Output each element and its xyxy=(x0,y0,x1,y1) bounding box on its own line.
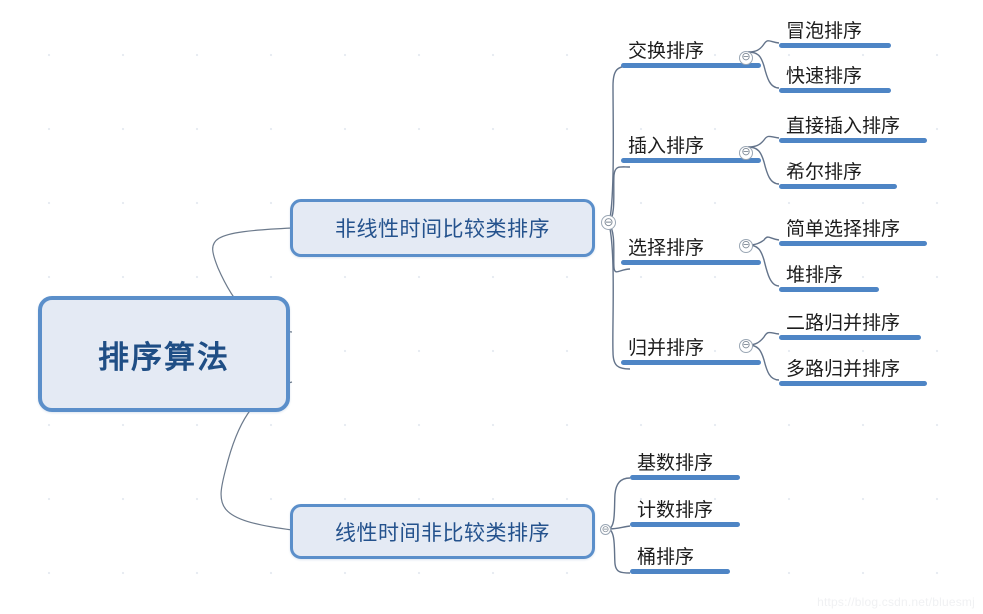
minus-circle-icon: ⊖ xyxy=(741,52,750,63)
branch-node-nonlinear[interactable]: 非线性时间比较类排序 xyxy=(290,199,595,257)
minus-circle-icon: ⊖ xyxy=(741,240,750,251)
connector-linear-to-bucket xyxy=(608,529,630,573)
leaf-node-heap-sort-label: 堆排序 xyxy=(786,266,843,286)
underline-bar xyxy=(621,260,761,265)
minus-circle-icon: ⊖ xyxy=(741,340,750,351)
leaf-node-simple-selection-sort[interactable]: 简单选择排序 xyxy=(779,216,927,246)
leaf-node-shell-sort-label: 希尔排序 xyxy=(786,163,862,183)
collapse-toggle-insertion[interactable]: ⊖ xyxy=(739,146,753,160)
group-node-insertion-label: 插入排序 xyxy=(628,137,704,157)
underline-bar xyxy=(779,335,921,340)
watermark-text: https://blog.csdn.net/bluesmj xyxy=(817,595,975,609)
collapse-toggle-linear[interactable]: ⊖ xyxy=(600,524,611,535)
underline-bar xyxy=(779,43,891,48)
root-node-label: 排序算法 xyxy=(98,332,230,377)
underline-bar xyxy=(779,138,927,143)
root-node[interactable]: 排序算法 xyxy=(38,296,290,412)
underline-bar xyxy=(630,522,740,527)
underline-bar xyxy=(779,241,927,246)
leaf-node-multi-way-merge-sort-label: 多路归并排序 xyxy=(786,360,900,380)
leaf-node-simple-selection-sort-label: 简单选择排序 xyxy=(786,220,900,240)
underline-bar xyxy=(621,158,761,163)
connector-linear-to-radix xyxy=(608,478,630,529)
branch-node-nonlinear-label: 非线性时间比较类排序 xyxy=(335,213,550,243)
leaf-node-radix-sort[interactable]: 基数排序 xyxy=(630,450,740,480)
leaf-node-heap-sort[interactable]: 堆排序 xyxy=(779,262,879,292)
leaf-node-direct-insertion-sort-label: 直接插入排序 xyxy=(786,117,900,137)
leaf-node-counting-sort[interactable]: 计数排序 xyxy=(630,497,740,527)
underline-bar xyxy=(779,381,927,386)
leaf-node-shell-sort[interactable]: 希尔排序 xyxy=(779,159,897,189)
underline-bar xyxy=(779,88,891,93)
leaf-node-quick-sort-label: 快速排序 xyxy=(786,67,862,87)
minus-circle-icon: ⊖ xyxy=(603,216,613,228)
branch-node-linear[interactable]: 线性时间非比较类排序 xyxy=(290,504,595,559)
group-node-selection-label: 选择排序 xyxy=(628,239,704,259)
underline-bar xyxy=(779,287,879,292)
minus-circle-icon: ⊖ xyxy=(602,525,610,534)
branch-node-linear-label: 线性时间非比较类排序 xyxy=(335,517,550,547)
collapse-toggle-nonlinear[interactable]: ⊖ xyxy=(601,215,616,230)
group-node-exchange-label: 交换排序 xyxy=(628,42,704,62)
underline-bar xyxy=(779,184,897,189)
collapse-toggle-merge[interactable]: ⊖ xyxy=(739,339,753,353)
leaf-node-bucket-sort-label: 桶排序 xyxy=(637,548,694,568)
leaf-node-bubble-sort[interactable]: 冒泡排序 xyxy=(779,18,891,48)
connector-linear-to-count xyxy=(608,526,630,529)
underline-bar xyxy=(630,475,740,480)
underline-bar xyxy=(621,63,761,68)
leaf-node-bucket-sort[interactable]: 桶排序 xyxy=(630,544,730,574)
leaf-node-bubble-sort-label: 冒泡排序 xyxy=(786,22,862,42)
leaf-node-direct-insertion-sort[interactable]: 直接插入排序 xyxy=(779,113,927,143)
leaf-node-radix-sort-label: 基数排序 xyxy=(637,454,713,474)
minus-circle-icon: ⊖ xyxy=(741,147,750,158)
underline-bar xyxy=(621,360,761,365)
group-node-merge-label: 归并排序 xyxy=(628,339,704,359)
leaf-node-two-way-merge-sort[interactable]: 二路归并排序 xyxy=(779,310,921,340)
collapse-toggle-selection[interactable]: ⊖ xyxy=(739,239,753,253)
mindmap-canvas: 排序算法 非线性时间比较类排序 ⊖ 交换排序 ⊖ 冒泡排序 快速排序 插入排序 … xyxy=(0,0,983,614)
underline-bar xyxy=(630,569,730,574)
leaf-node-multi-way-merge-sort[interactable]: 多路归并排序 xyxy=(779,356,927,386)
leaf-node-two-way-merge-sort-label: 二路归并排序 xyxy=(786,314,900,334)
leaf-node-counting-sort-label: 计数排序 xyxy=(637,501,713,521)
collapse-toggle-exchange[interactable]: ⊖ xyxy=(739,51,753,65)
leaf-node-quick-sort[interactable]: 快速排序 xyxy=(779,63,891,93)
